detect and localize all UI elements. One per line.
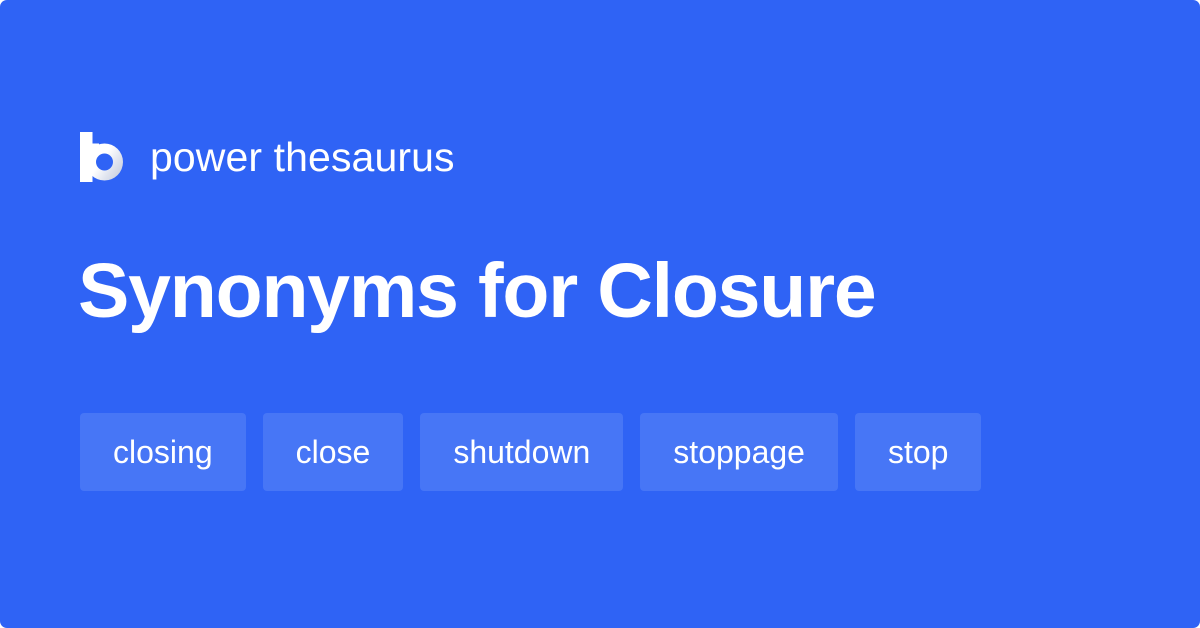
synonym-chip[interactable]: close: [263, 413, 404, 491]
synonym-chip[interactable]: stop: [855, 413, 981, 491]
brand-name: power thesaurus: [150, 137, 455, 178]
share-card: power thesaurus Synonyms for Closure clo…: [0, 0, 1200, 628]
power-thesaurus-b-logo-icon: [80, 132, 124, 182]
synonym-chip[interactable]: shutdown: [420, 413, 623, 491]
synonym-chip[interactable]: closing: [80, 413, 246, 491]
page-title: Synonyms for Closure: [78, 250, 876, 333]
synonym-chip[interactable]: stoppage: [640, 413, 838, 491]
synonym-chip-list: closing close shutdown stoppage stop: [80, 413, 981, 491]
brand-logo-row[interactable]: power thesaurus: [80, 126, 455, 188]
